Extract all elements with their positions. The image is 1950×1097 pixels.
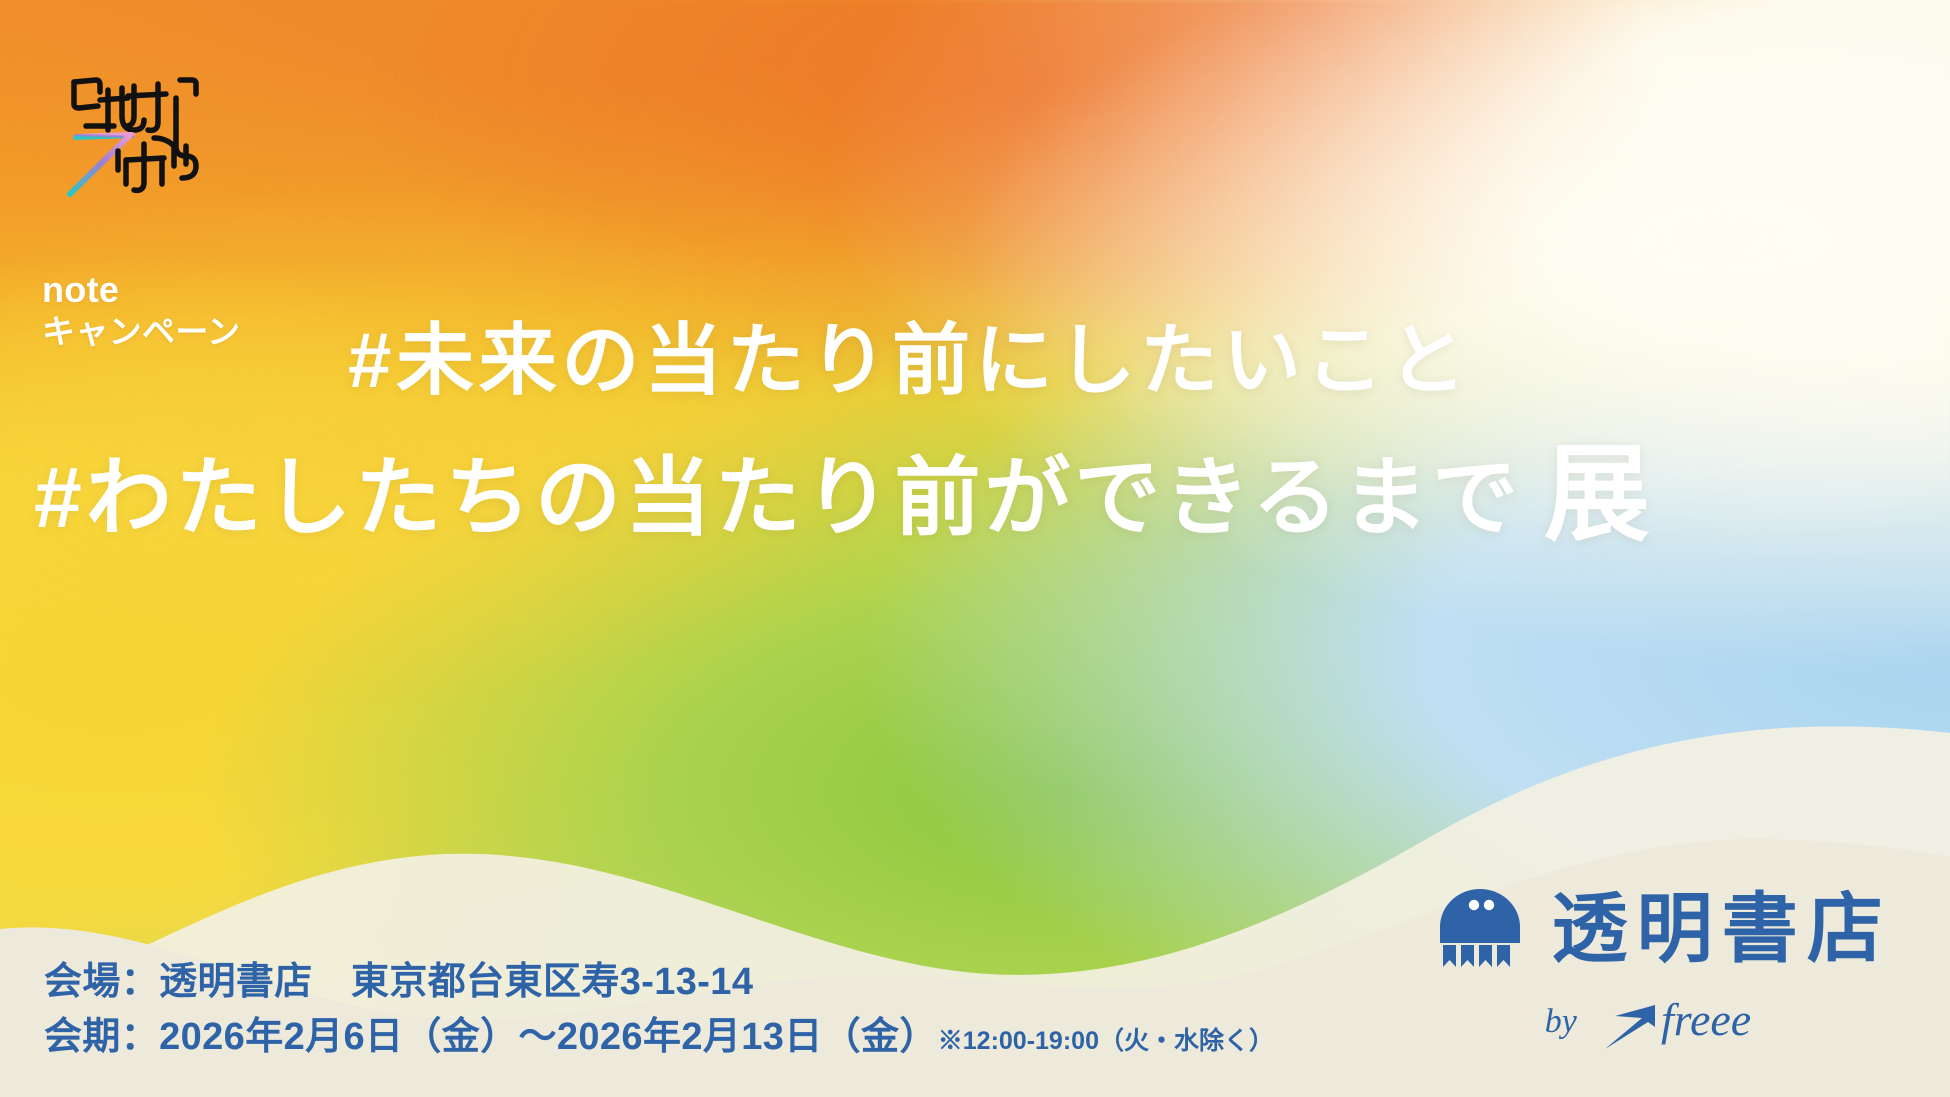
venue-line: 会場：透明書店 東京都台東区寿3-13-14 — [44, 955, 1274, 1010]
headline-suffix: 展 — [1544, 436, 1650, 554]
shop-by-row: by freee — [1545, 991, 1791, 1053]
dates-text: 会期：2026年2月6日（金）〜2026年2月13日（金） — [44, 1016, 938, 1058]
headline-line-2: #わたしたちの当たり前ができるまで展 — [34, 440, 1950, 551]
shop-name-row: 透明書店 — [1434, 887, 1892, 973]
headline-line-1: #未来の当たり前にしたいこと — [348, 320, 1950, 402]
shop-name: 透明書店 — [1552, 892, 1892, 968]
freee-wordmark: freee — [1661, 994, 1751, 1045]
hours-note: ※12:00-19:00（火・水除く） — [938, 1027, 1274, 1055]
freee-logo: freee — [1595, 991, 1791, 1053]
korekara-labo-logo — [40, 38, 240, 218]
headline-line-2-text: #わたしたちの当たり前ができるまで — [34, 450, 1522, 546]
eyebrow-line-1: note — [42, 268, 240, 312]
by-label: by — [1545, 1005, 1577, 1039]
event-info: 会場：透明書店 東京都台東区寿3-13-14 会期：2026年2月6日（金）〜2… — [44, 955, 1274, 1065]
dates-line: 会期：2026年2月6日（金）〜2026年2月13日（金）※12:00-19:0… — [44, 1010, 1274, 1065]
shop-logo-block: 透明書店 by freee — [1434, 887, 1892, 1053]
jellyfish-icon — [1434, 887, 1526, 973]
swallow-icon — [1605, 1005, 1655, 1049]
headline-block: #未来の当たり前にしたいこと #わたしたちの当たり前ができるまで展 — [0, 320, 1950, 551]
poster-canvas: note キャンペーン #未来の当たり前にしたいこと #わたしたちの当たり前がで… — [0, 0, 1950, 1097]
